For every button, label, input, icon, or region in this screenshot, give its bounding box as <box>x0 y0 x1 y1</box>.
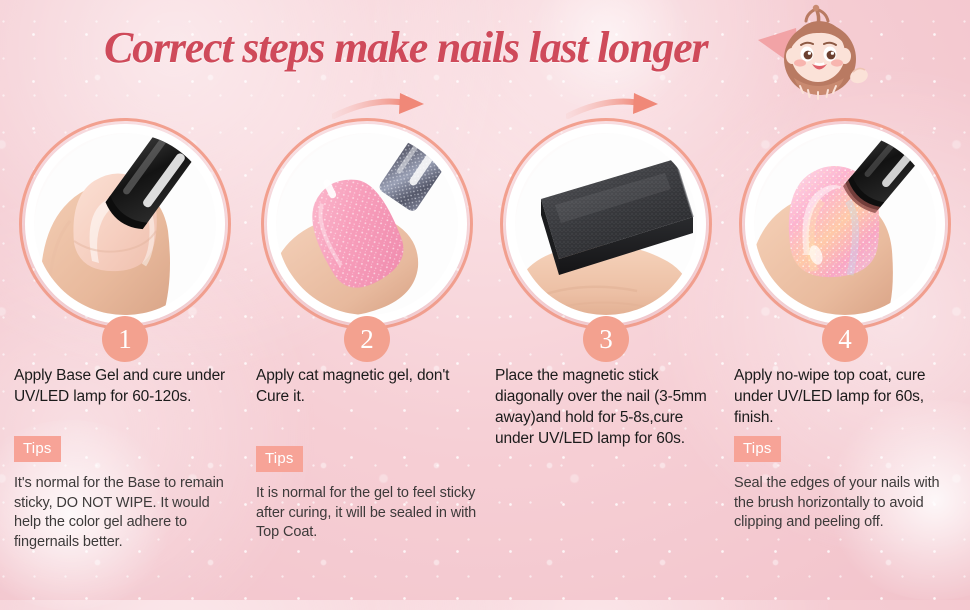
step-1-number-badge: 1 <box>102 316 148 362</box>
step-2-number-badge: 2 <box>344 316 390 362</box>
photo-cat-magnetic-gel-application <box>276 133 458 315</box>
step-4-number-badge: 4 <box>822 316 868 362</box>
photo-ring-inner <box>506 124 706 324</box>
step-2-tips-text: It is normal for the gel to feel sticky … <box>256 484 482 543</box>
step-4-tips-text: Seal the edges of your nails with the br… <box>734 474 960 533</box>
steps-container: 1 Apply Base Gel and cure under UV/LED l… <box>0 0 970 600</box>
step-2-instruction: Apply cat magnetic gel, don't Cure it. <box>256 365 478 407</box>
step-1-instruction: Apply Base Gel and cure under UV/LED lam… <box>14 365 236 407</box>
step-2: 2 Apply cat magnetic gel, don't Cure it.… <box>246 0 488 600</box>
step-4: 4 Apply no-wipe top coat, cure under UV/… <box>724 0 966 600</box>
step-1-tips-label: Tips <box>14 436 61 462</box>
photo-ring-inner <box>267 124 467 324</box>
step-1: 1 Apply Base Gel and cure under UV/LED l… <box>4 0 246 600</box>
step-4-photo <box>739 118 951 330</box>
step-4-instruction: Apply no-wipe top coat, cure under UV/LE… <box>734 365 956 428</box>
step-3: 3 Place the magnetic stick diagonally ov… <box>485 0 727 600</box>
step-1-photo <box>19 118 231 330</box>
step-4-tips-label: Tips <box>734 436 781 462</box>
photo-base-gel-application <box>34 133 216 315</box>
photo-magnetic-stick-over-nail <box>515 133 697 315</box>
photo-ring-inner <box>745 124 945 324</box>
step-3-instruction: Place the magnetic stick diagonally over… <box>495 365 717 449</box>
step-3-photo <box>500 118 712 330</box>
step-2-tips-label: Tips <box>256 446 303 472</box>
step-1-tips-text: It's normal for the Base to remain stick… <box>14 474 240 553</box>
photo-top-coat-finished-nail <box>754 133 936 315</box>
photo-ring-inner <box>25 124 225 324</box>
step-2-photo <box>261 118 473 330</box>
step-3-number-badge: 3 <box>583 316 629 362</box>
